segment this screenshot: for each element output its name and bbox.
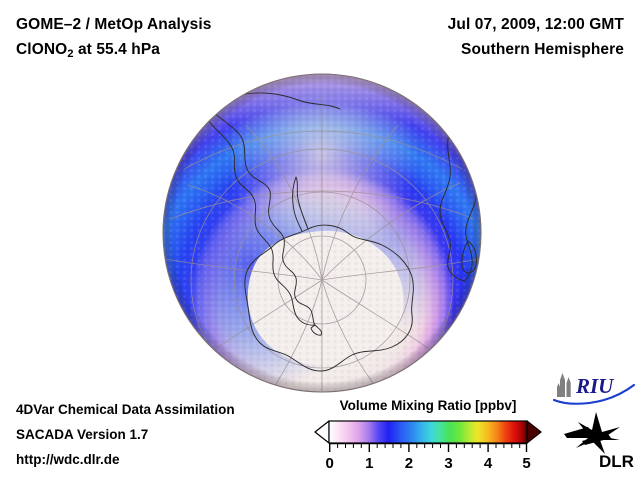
dlr-wordmark: DLR <box>599 452 634 471</box>
colorbar-tick-label: 2 <box>405 455 413 472</box>
dlr-logo: DLR <box>558 410 636 472</box>
colorbar: Volume Mixing Ratio [ppbv] <box>312 398 544 474</box>
riu-wordmark: RIU <box>575 374 615 398</box>
species-pressure-level: at 55.4 hPa <box>74 41 161 58</box>
species-level-label: ClONO2 at 55.4 hPa <box>16 41 160 60</box>
colorbar-low-extend-arrow <box>315 421 329 443</box>
region-label: Southern Hemisphere <box>461 41 624 59</box>
colorbar-tick-label: 5 <box>522 455 530 472</box>
datetime-label: Jul 07, 2009, 12:00 GMT <box>448 16 624 34</box>
colorbar-major-ticks <box>330 443 527 452</box>
method-label: 4DVar Chemical Data Assimilation <box>16 402 235 417</box>
colorbar-tick-label: 3 <box>444 455 452 472</box>
polar-projection-map <box>162 73 482 393</box>
figure-canvas: GOME–2 / MetOp Analysis ClONO2 at 55.4 h… <box>0 0 640 480</box>
coastline-new-zealand-south <box>240 381 258 389</box>
globe-graphic <box>162 73 482 393</box>
coastline-new-zealand <box>214 368 236 378</box>
dlr-mark-icon <box>564 412 620 454</box>
colorbar-tick-label: 4 <box>484 455 493 472</box>
species-formula-prefix: ClONO <box>16 41 67 58</box>
riu-logo: RIU <box>552 371 636 407</box>
colorbar-tick-label: 0 <box>326 455 334 472</box>
limb-shading <box>162 73 482 393</box>
colorbar-high-extend-arrow <box>527 421 541 443</box>
website-link[interactable]: http://wdc.dlr.de <box>16 452 120 467</box>
colorbar-tick-labels: 0 1 2 3 4 5 <box>326 455 531 472</box>
colorbar-gradient <box>329 421 527 443</box>
colorbar-title: Volume Mixing Ratio [ppbv] <box>312 398 544 413</box>
riu-logo-graphic: RIU <box>552 371 636 407</box>
version-label: SACADA Version 1.7 <box>16 427 148 442</box>
colorbar-scale: 0 1 2 3 4 5 <box>312 418 544 474</box>
page-title: GOME–2 / MetOp Analysis <box>16 16 212 34</box>
colorbar-tick-label: 1 <box>365 455 373 472</box>
riu-spires-icon <box>557 373 571 397</box>
dlr-logo-graphic: DLR <box>558 410 636 472</box>
